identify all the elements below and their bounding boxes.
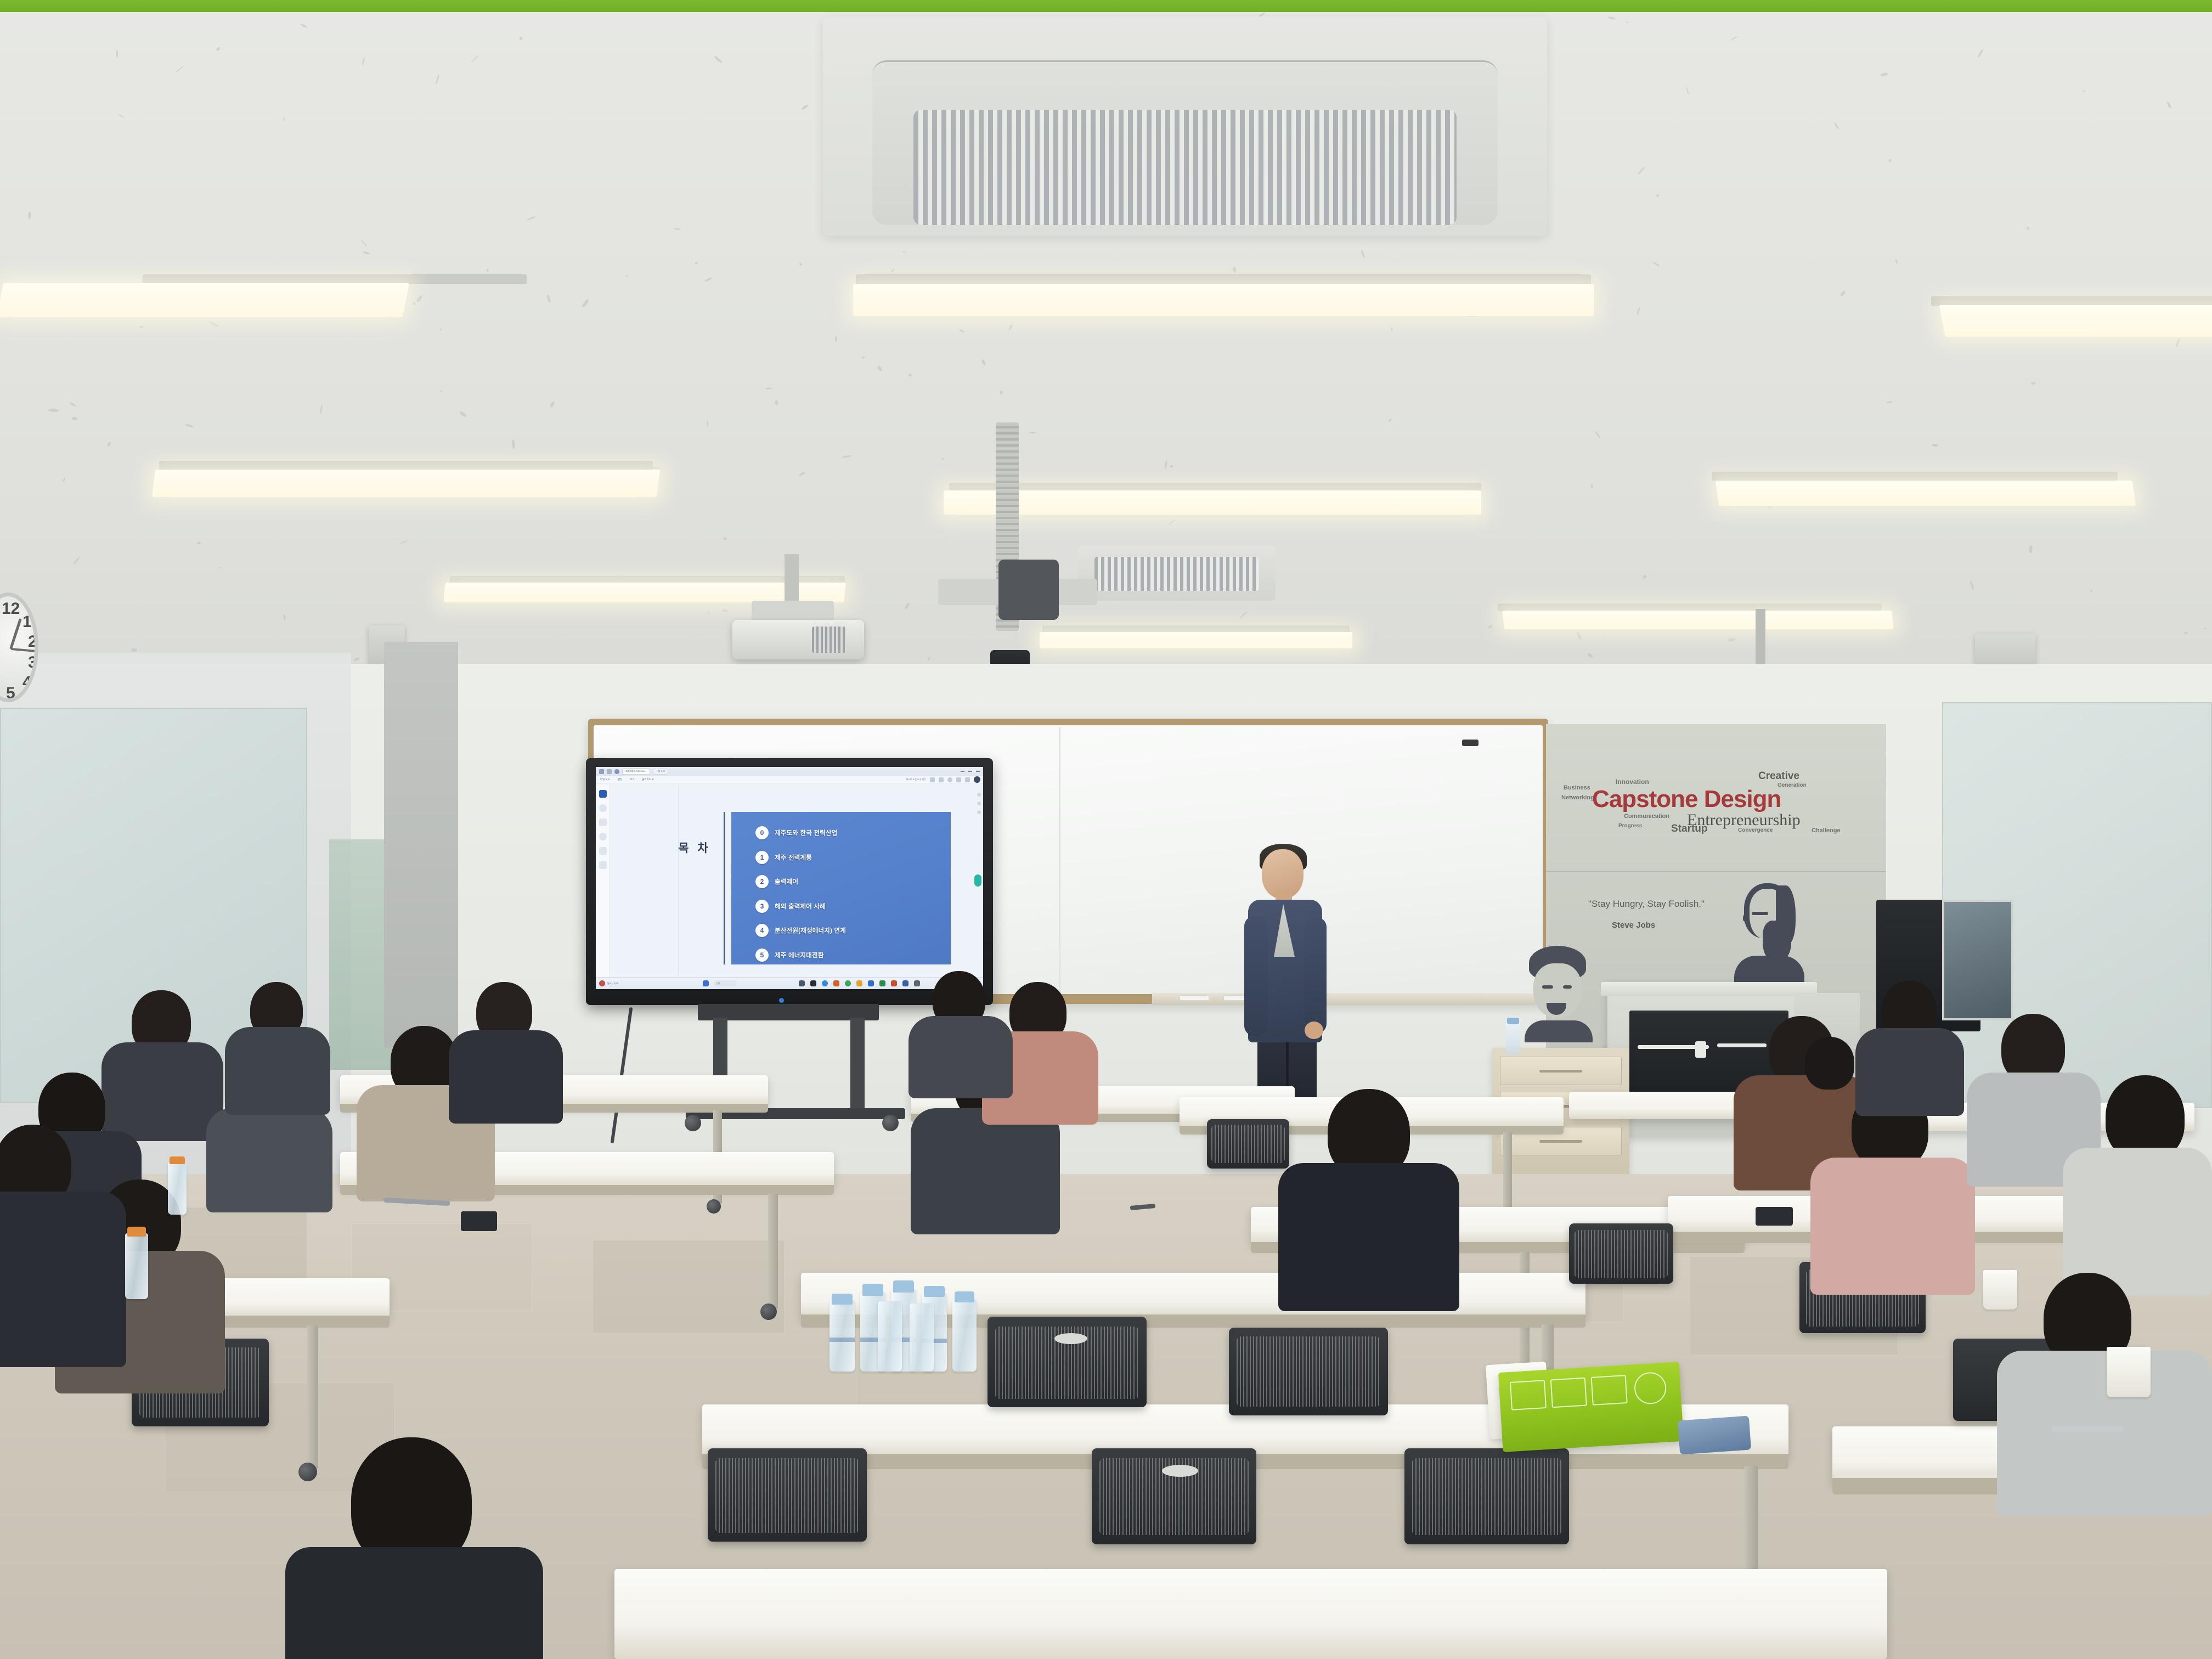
rail-icon[interactable] [977,793,981,797]
panel-divider [678,785,679,989]
cable [1695,1041,1706,1058]
toc-number: 2 [755,875,769,888]
ceiling-light-panel [152,470,660,497]
student-torso [911,1108,1060,1234]
shape-tool-icon[interactable] [599,833,607,840]
menu-item-view[interactable]: 보기 [630,778,634,781]
water-bottle[interactable] [1506,1022,1520,1054]
toc-number: 0 [755,826,769,839]
right-tool-rail[interactable] [974,788,983,985]
app-tab-bar: 제주대발표자료2025-... + 탭 추가 [596,767,983,776]
wall-column [384,642,458,1048]
water-bottle[interactable] [878,1301,902,1372]
bag-print-icon [1510,1380,1547,1410]
slide-divider-rule [724,812,725,964]
pen-icon[interactable] [965,777,970,782]
water-bottle[interactable] [168,1162,187,1215]
wall-quote-author: Steve Jobs [1612,921,1655,930]
edge-icon[interactable] [822,980,828,986]
chair-mesh [1412,1458,1561,1535]
cloud-word: Business [1564,785,1590,791]
student-torso [1855,1028,1964,1116]
taskbar-app-label: 발표자 도구 [607,982,618,985]
save-icon[interactable] [607,769,612,774]
comment-icon[interactable] [956,777,961,782]
toc-item: 5 제주 에너지대전환 [755,949,951,962]
document-tab[interactable]: 제주대발표자료2025-... [622,768,650,775]
os-taskbar[interactable]: 발표자 도구 검색 [596,977,983,989]
menu-item-file[interactable]: 파일 도구 [600,778,610,781]
cloud-word: Networking [1561,794,1594,801]
lectern-top [1601,982,1817,996]
toc-number: 1 [755,851,769,864]
toc-number: 4 [755,924,769,937]
taskbar-icons[interactable]: 검색 [703,980,737,986]
paper-cup[interactable] [1983,1270,2017,1310]
entrepreneurship-title: Entrepreneurship [1687,811,1801,830]
drawer-handle[interactable] [1539,1070,1582,1073]
capstone-title: Capstone Design [1592,786,1781,813]
caster-wheel [298,1463,317,1481]
bottle-cap [832,1294,853,1305]
desk-leg [768,1194,778,1309]
light-rim [1712,472,2118,481]
water-bottle[interactable] [125,1233,148,1299]
student-desk [614,1569,1887,1659]
caster-wheel [685,1115,701,1131]
text-tool-icon[interactable] [599,861,607,869]
cloud-sync-icon[interactable] [614,769,619,774]
bag-print-icon [1591,1375,1628,1406]
ribbon-actions[interactable]: 텍스트 또는 도구 찾기 [906,776,980,783]
explorer-icon[interactable] [799,980,805,986]
toc-item: 0 제주도와 한국 전력산업 [755,826,951,839]
toc-item: 1 제주 전력계통 [755,851,951,864]
toc-label: 제주 에너지대전환 [775,951,824,960]
toc-item: 2 출력제어 [755,875,951,888]
present-icon[interactable] [939,777,944,782]
lecturer-hand [1305,1022,1323,1039]
terminal-icon[interactable] [810,980,816,986]
chair-mesh [715,1458,859,1533]
ceiling-light-panel [1716,481,2136,506]
table-tool-icon[interactable] [599,847,607,855]
smartphone[interactable] [461,1211,497,1231]
chair-handle[interactable] [1162,1465,1198,1477]
toc-label: 제주 전력계통 [775,853,812,862]
student-torso [1810,1158,1975,1295]
toc-item: 3 해외 출력제어 사례 [755,900,951,913]
select-tool-icon[interactable] [599,790,607,798]
powerpoint-icon[interactable] [891,980,897,986]
status-pill[interactable] [974,874,981,887]
smartphone[interactable] [1756,1207,1793,1226]
tool-rail[interactable] [596,785,610,989]
rail-icon[interactable] [977,810,981,814]
lecturer-arm-right [1305,917,1327,1034]
bottle-cap [170,1156,185,1164]
word-cloud: Business Networking Innovation Communica… [1564,768,1871,872]
desk-leg [307,1325,318,1468]
chair-mesh [1211,1125,1285,1163]
toc-label: 해외 출력제어 사례 [775,902,826,911]
display-power-led [779,998,784,1003]
blue-pouch[interactable] [1678,1416,1751,1455]
ac-vent-grille [1094,557,1259,591]
ac-grille [913,110,1457,225]
chrome-icon[interactable] [845,980,851,986]
rail-icon[interactable] [977,802,981,805]
cloud-word: Communication [1624,813,1669,820]
firefox-icon[interactable] [833,980,839,986]
bag-print-icon [1550,1378,1587,1408]
whiteboard-marker[interactable] [1180,995,1209,1001]
toc-number: 3 [755,900,769,913]
cloud-word: Creative [1758,770,1799,782]
student-torso [206,1108,332,1212]
student-torso [0,1192,126,1367]
ceiling-light-panel [944,490,1481,515]
zuckerberg-portrait [1522,944,1594,1040]
chair-mesh [1237,1336,1380,1407]
wall-quote: "Stay Hungry, Stay Foolish." [1588,899,1705,910]
menu-item-edit[interactable]: 편집 [618,778,622,781]
top-green-strip [0,0,2212,12]
windows-start-icon[interactable] [703,980,709,986]
caster-wheel [882,1115,899,1131]
classroom-photo: 12 1 2 3 4 5 6 7 8 9 제주대발표자료2025-... + 탭… [0,0,2212,1659]
close-icon[interactable] [976,771,980,772]
bottle-cap [127,1227,146,1237]
student-torso [101,1042,223,1141]
taskbar-pinned-apps[interactable] [799,980,920,986]
search-icon[interactable] [930,777,935,782]
ceiling-light-panel [0,283,409,317]
steve-jobs-portrait [1731,878,1808,988]
search-label: 검색 [716,982,720,985]
cloud-word: Generation [1778,782,1807,788]
student-torso [449,1030,563,1124]
toc-item: 4 분산전원(재생에너지) 연계 [755,924,951,937]
slide-canvas[interactable]: 목 차 0 제주도와 한국 전력산업 1 제주 전력계통 2 출력제어 3 해외… [719,792,974,973]
search-label: 텍스트 또는 도구 찾기 [906,778,926,781]
projector-lens [812,627,846,653]
slide-toc-body: 0 제주도와 한국 전력산업 1 제주 전력계통 2 출력제어 3 해외 출력제… [731,812,951,964]
bottle-cap [893,1280,914,1293]
app-logo-icon [599,769,604,774]
bottle-cap [1507,1018,1519,1024]
bottle-cap [924,1286,945,1297]
student-torso [1997,1351,2212,1515]
floor-tile [592,1240,785,1333]
lecturer-arm-left [1244,916,1267,1036]
whiteboard-seam [1059,727,1060,993]
student-torso [225,1027,330,1115]
share-icon[interactable] [947,777,952,782]
ceiling-light-panel [1502,611,1894,629]
bottle-cap [955,1291,974,1302]
slide-title: 목 차 [670,839,719,856]
bag-logo-icon [1633,1372,1667,1405]
paper-cup[interactable] [2107,1347,2151,1397]
cable [1717,1043,1767,1047]
menu-item-slideshow[interactable]: 슬라이드 쇼 [642,778,654,781]
window-right [1942,900,2013,1020]
word-icon[interactable] [868,980,874,986]
bottle-cap [862,1284,883,1296]
water-bottle[interactable] [830,1300,855,1372]
ceiling-light-panel [853,284,1594,316]
caster-wheel [707,1199,721,1214]
student-head [1805,1037,1854,1090]
ceiling-light-panel [1040,632,1352,648]
pole-bracket [998,560,1059,620]
chair-mesh [1575,1230,1668,1278]
caster-wheel [760,1304,777,1320]
toc-label: 분산전원(재생에너지) 연계 [775,926,846,935]
taskbar-left[interactable]: 발표자 도구 [596,980,618,986]
water-bottle[interactable] [952,1299,977,1372]
messenger-icon[interactable] [902,980,909,986]
taskbar-search-box[interactable]: 검색 [714,980,737,986]
pen-tool-icon[interactable] [599,819,607,826]
new-tab-button[interactable]: + 탭 추가 [653,769,668,775]
toc-label: 출력제어 [775,877,798,886]
cloud-word: Progress [1618,823,1642,829]
ceiling-light-panel [1939,305,2212,337]
chair-handle[interactable] [1054,1333,1087,1344]
window-controls[interactable] [961,771,980,772]
avatar[interactable] [974,776,980,783]
stationery[interactable] [2052,1426,2123,1432]
water-bottle[interactable] [910,1304,934,1372]
maximize-icon[interactable] [968,771,972,772]
student-torso [1278,1163,1459,1311]
student-torso [909,1016,1013,1098]
whiteboard-magnet [1462,740,1479,746]
drawer-handle[interactable] [1539,1140,1582,1143]
bottle-label [830,1338,855,1342]
whiteboard-marker-tray [1152,993,1536,1005]
light-rim [1498,603,1882,611]
folder-icon[interactable] [856,980,862,986]
cloud-word: Challenge [1812,827,1841,834]
toc-number: 5 [755,949,769,962]
app-indicator-icon [599,980,605,986]
excel-icon[interactable] [879,980,885,986]
presentation-screen[interactable]: 제주대발표자료2025-... + 탭 추가 파일 도구 편집 보기 슬라이드 … [596,767,983,989]
minimize-icon[interactable] [961,771,964,772]
settings-icon[interactable] [914,980,920,986]
green-shopping-bag[interactable] [1498,1362,1684,1452]
cloud-word: Innovation [1616,778,1649,786]
toc-label: 제주도와 한국 전력산업 [775,828,838,837]
display-stand-column [850,1018,865,1114]
student-torso-foreground [285,1547,543,1659]
zoom-tool-icon[interactable] [599,804,607,812]
